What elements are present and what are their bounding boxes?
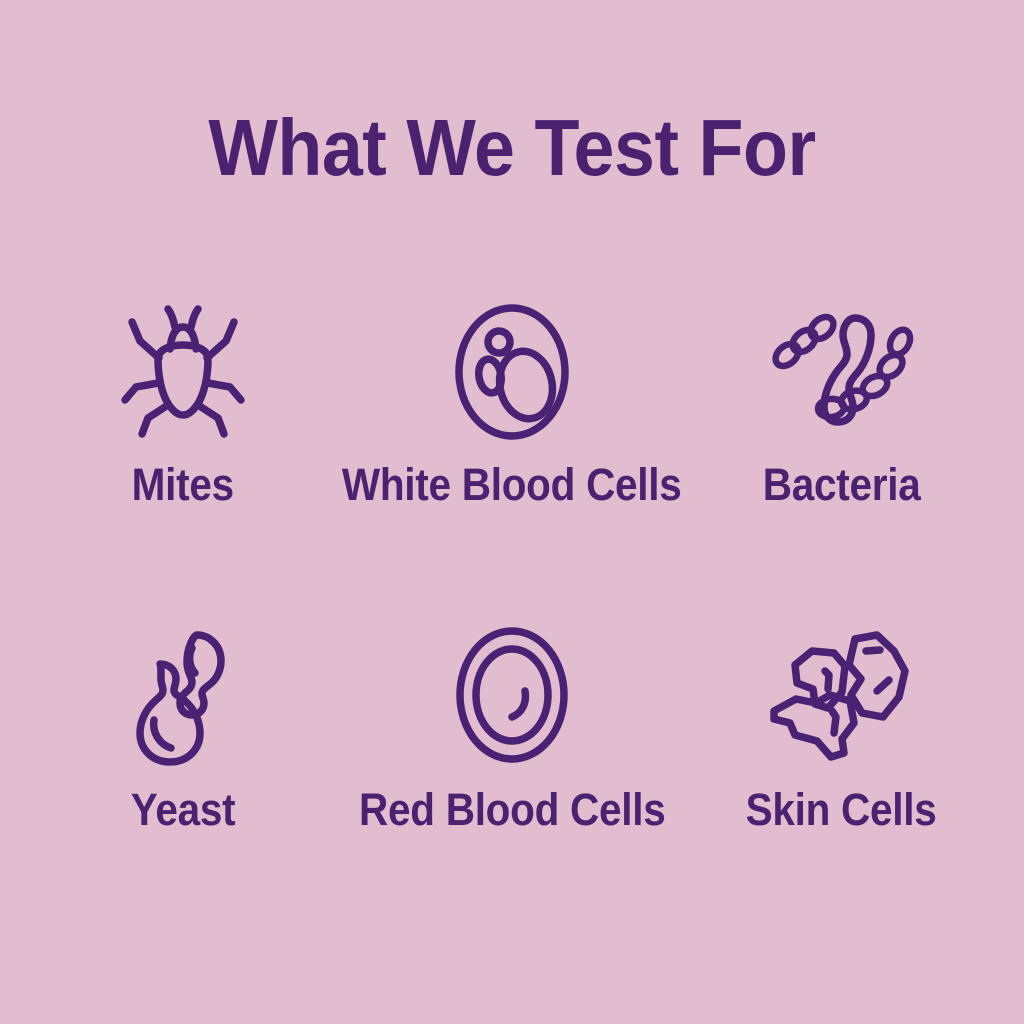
test-item-label: Mites (132, 462, 234, 507)
test-item-yeast[interactable]: Yeast (42, 612, 323, 932)
red-blood-cell-icon (453, 612, 571, 777)
bacteria-icon (771, 292, 911, 452)
skin-cell-icon (771, 612, 911, 777)
test-item-skin-cell-icon-cell[interactable]: Skin Cells (701, 612, 982, 932)
test-item-label: Bacteria (762, 462, 920, 507)
white-blood-cell-icon (452, 292, 572, 452)
page-title: What We Test For (41, 108, 983, 188)
test-item-white-blood-cells[interactable]: White Blood Cells (323, 292, 700, 612)
test-item-label: Red Blood Cells (359, 787, 665, 832)
test-item-bacteria[interactable]: Bacteria (701, 292, 982, 612)
test-item-red-blood-cells[interactable]: Red Blood Cells (323, 612, 700, 932)
test-item-label: White Blood Cells (342, 462, 682, 507)
test-item-label: Yeast (130, 787, 234, 832)
yeast-cell-icon (120, 612, 245, 777)
test-item-mites[interactable]: Mites (42, 292, 323, 612)
test-items-grid: Mites White Blood Cells (42, 292, 982, 932)
test-item-label: Skin Cells (746, 787, 937, 832)
poster-canvas: What We Test For (0, 0, 1024, 1024)
mite-bug-icon (118, 292, 248, 452)
